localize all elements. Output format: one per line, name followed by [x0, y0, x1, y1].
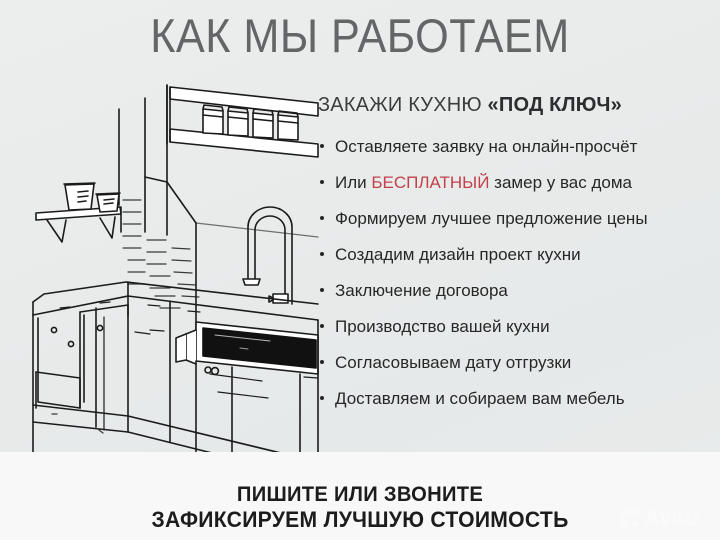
offer-column: ЗАКАЖИ КУХНЮ «ПОД КЛЮЧ» Оставляете заявк…: [318, 92, 714, 424]
list-item: Формируем лучшее предложение цены: [318, 208, 714, 244]
step-text: Создадим дизайн проект кухни: [335, 245, 581, 264]
sink-basin: [176, 322, 318, 374]
list-item: Создадим дизайн проект кухни: [318, 244, 714, 280]
bullet-dot-icon: [320, 252, 324, 256]
step-text: Доставляем и собираем вам мебель: [335, 389, 625, 408]
lower-cabinets: [33, 296, 318, 462]
list-item: Заключение договора: [318, 280, 714, 316]
footer-call-to-action: ПИШИТЕ ИЛИ ЗВОНИТЕ ЗАФИКСИРУЕМ ЛУЧШУЮ СТ…: [14, 482, 705, 532]
steps-list: Оставляете заявку на онлайн-просчёт Или …: [318, 136, 714, 424]
avito-dots-icon: [620, 507, 642, 529]
list-item: Производство вашей кухни: [318, 316, 714, 352]
kitchen-line-drawing: [0, 72, 320, 462]
bullet-dot-icon: [320, 360, 324, 364]
list-item: Или БЕСПЛАТНЫЙ замер у вас дома: [318, 172, 714, 208]
offer-subheading-bold: «ПОД КЛЮЧ»: [488, 94, 622, 116]
bullet-dot-icon: [320, 324, 324, 328]
step-text-pre: Или: [335, 173, 371, 192]
page-title: КАК МЫ РАБОТАЕМ: [29, 8, 691, 64]
list-item: Оставляете заявку на онлайн-просчёт: [318, 136, 714, 172]
backsplash: [123, 200, 199, 308]
footer-line-2: ЗАФИКСИРУЕМ ЛУЧШУЮ СТОИМОСТЬ: [14, 507, 705, 532]
list-item: Согласовываем дату отгрузки: [318, 352, 714, 388]
step-text: Заключение договора: [335, 281, 508, 300]
offer-subheading: ЗАКАЖИ КУХНЮ «ПОД КЛЮЧ»: [318, 92, 714, 118]
avito-wordmark: Avito: [644, 506, 698, 529]
offer-subheading-plain: ЗАКАЖИ КУХНЮ: [318, 94, 488, 116]
step-text: Формируем лучшее предложение цены: [335, 209, 648, 228]
bullet-dot-icon: [320, 180, 324, 184]
step-text-highlight: БЕСПЛАТНЫЙ: [371, 173, 489, 192]
floor: [33, 372, 318, 462]
bullet-dot-icon: [320, 144, 324, 148]
bullet-dot-icon: [320, 216, 324, 220]
cups-on-shelf: [64, 183, 120, 212]
footer-line-1: ПИШИТЕ ИЛИ ЗВОНИТЕ: [14, 482, 705, 507]
step-text: Согласовываем дату отгрузки: [335, 353, 571, 372]
avito-watermark: Avito: [620, 506, 698, 529]
step-text: Оставляете заявку на онлайн-просчёт: [335, 137, 637, 156]
bullet-dot-icon: [320, 396, 324, 400]
gooseneck-faucet: [243, 207, 292, 304]
step-text-post: замер у вас дома: [489, 173, 632, 192]
step-text: Производство вашей кухни: [335, 317, 550, 336]
poster-root: КАК МЫ РАБОТАЕМ ЗАКАЖИ КУХНЮ «ПОД КЛЮЧ» …: [0, 0, 720, 540]
bullet-dot-icon: [320, 288, 324, 292]
list-item: Доставляем и собираем вам мебель: [318, 388, 714, 424]
